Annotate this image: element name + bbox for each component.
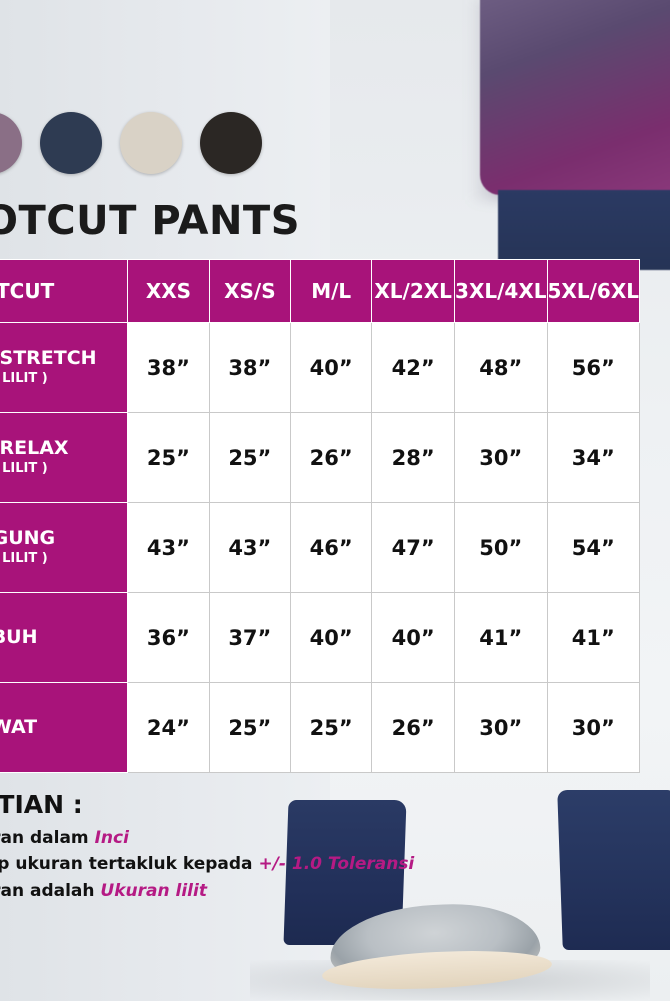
- cell-value: 43”: [209, 503, 291, 593]
- cell-value: 24”: [128, 683, 209, 773]
- column-header-xl-2xl: XL/2XL: [372, 260, 455, 323]
- cell-value: 41”: [455, 593, 547, 683]
- cell-value: 40”: [291, 323, 372, 413]
- row-label-main: H RELAX: [0, 439, 127, 459]
- row-label-main: AWAT: [0, 718, 127, 738]
- cell-value: 38”: [128, 323, 209, 413]
- notes-title: ATIAN :: [0, 790, 500, 819]
- note-line-3-emphasis: Ukuran lilit: [100, 881, 207, 901]
- cell-value: 34”: [547, 413, 640, 503]
- note-line-3-text: uran adalah: [0, 881, 100, 901]
- cell-value: 26”: [291, 413, 372, 503]
- row-label-sub: UR LILIT ): [0, 371, 127, 386]
- column-header-3xl-4xl: 3XL/4XL: [455, 260, 547, 323]
- column-header-xxs: XXS: [128, 260, 209, 323]
- cell-value: 30”: [547, 683, 640, 773]
- cell-value: 37”: [209, 593, 291, 683]
- model-jeans-upper: [498, 190, 670, 270]
- note-line-1-text: uran dalam: [0, 828, 95, 848]
- cell-value: 40”: [291, 593, 372, 683]
- cell-value: 25”: [128, 413, 209, 503]
- cell-value: 54”: [547, 503, 640, 593]
- cell-value: 42”: [372, 323, 455, 413]
- note-line-1-emphasis: Inci: [95, 828, 129, 848]
- cell-value: 40”: [372, 593, 455, 683]
- page-title: OTCUT PANTS: [0, 198, 300, 244]
- cell-value: 30”: [455, 413, 547, 503]
- cell-value: 46”: [291, 503, 372, 593]
- swatch-black: [200, 112, 262, 174]
- cell-value: 25”: [209, 683, 291, 773]
- cell-value: 50”: [455, 503, 547, 593]
- swatch-beige: [120, 112, 182, 174]
- colour-swatch-row: [0, 112, 262, 174]
- cell-value: 36”: [128, 593, 209, 683]
- size-table: OTCUT XXS XS/S M/L XL/2XL 3XL/4XL 5XL/6X…: [0, 259, 640, 773]
- row-label-sub: UR LILIT ): [0, 551, 127, 566]
- row-label-main: H STRETCH: [0, 349, 127, 369]
- swatch-mauve: [0, 112, 22, 174]
- cell-value: 38”: [209, 323, 291, 413]
- model-shirt: [480, 0, 670, 195]
- row-label-labuh: ABUH: [0, 593, 128, 683]
- row-label-main: ABUH: [0, 628, 127, 648]
- table-row: GGUNG UR LILIT ) 43” 43” 46” 47” 50” 54”: [0, 503, 640, 593]
- note-line-2-text: iap ukuran tertakluk kepada: [0, 854, 258, 874]
- column-header-5xl-6xl: 5XL/6XL: [547, 260, 640, 323]
- table-header-row: OTCUT XXS XS/S M/L XL/2XL 3XL/4XL 5XL/6X…: [0, 260, 640, 323]
- swatch-navy: [40, 112, 102, 174]
- table-row: ABUH 36” 37” 40” 40” 41” 41”: [0, 593, 640, 683]
- row-label-main: GGUNG: [0, 529, 127, 549]
- table-row: H RELAX UR LILIT ) 25” 25” 26” 28” 30” 3…: [0, 413, 640, 503]
- notes-block: ATIAN : uran dalam Inci iap ukuran terta…: [0, 790, 500, 904]
- note-line-1: uran dalam Inci: [0, 825, 500, 851]
- row-label-panggung: GGUNG UR LILIT ): [0, 503, 128, 593]
- cell-value: 43”: [128, 503, 209, 593]
- cell-value: 47”: [372, 503, 455, 593]
- cell-value: 25”: [291, 683, 372, 773]
- cell-value: 28”: [372, 413, 455, 503]
- cell-value: 48”: [455, 323, 547, 413]
- note-line-3: uran adalah Ukuran lilit: [0, 878, 500, 904]
- row-label-sub: UR LILIT ): [0, 461, 127, 476]
- cell-value: 26”: [372, 683, 455, 773]
- column-header-xs-s: XS/S: [209, 260, 291, 323]
- table-row: AWAT 24” 25” 25” 26” 30” 30”: [0, 683, 640, 773]
- row-label-rawat: AWAT: [0, 683, 128, 773]
- cell-value: 41”: [547, 593, 640, 683]
- column-header-name: OTCUT: [0, 260, 128, 323]
- note-line-2-emphasis: +/- 1.0 Toleransi: [258, 854, 414, 874]
- size-chart-page: OTCUT PANTS OTCUT XXS XS/S M/L XL/2XL 3X…: [0, 0, 670, 1001]
- cell-value: 56”: [547, 323, 640, 413]
- table-row: H STRETCH UR LILIT ) 38” 38” 40” 42” 48”…: [0, 323, 640, 413]
- model-pant-leg-right: [557, 790, 670, 950]
- row-label-relax: H RELAX UR LILIT ): [0, 413, 128, 503]
- column-header-m-l: M/L: [291, 260, 372, 323]
- note-line-2: iap ukuran tertakluk kepada +/- 1.0 Tole…: [0, 851, 500, 877]
- cell-value: 30”: [455, 683, 547, 773]
- cell-value: 25”: [209, 413, 291, 503]
- row-label-stretch: H STRETCH UR LILIT ): [0, 323, 128, 413]
